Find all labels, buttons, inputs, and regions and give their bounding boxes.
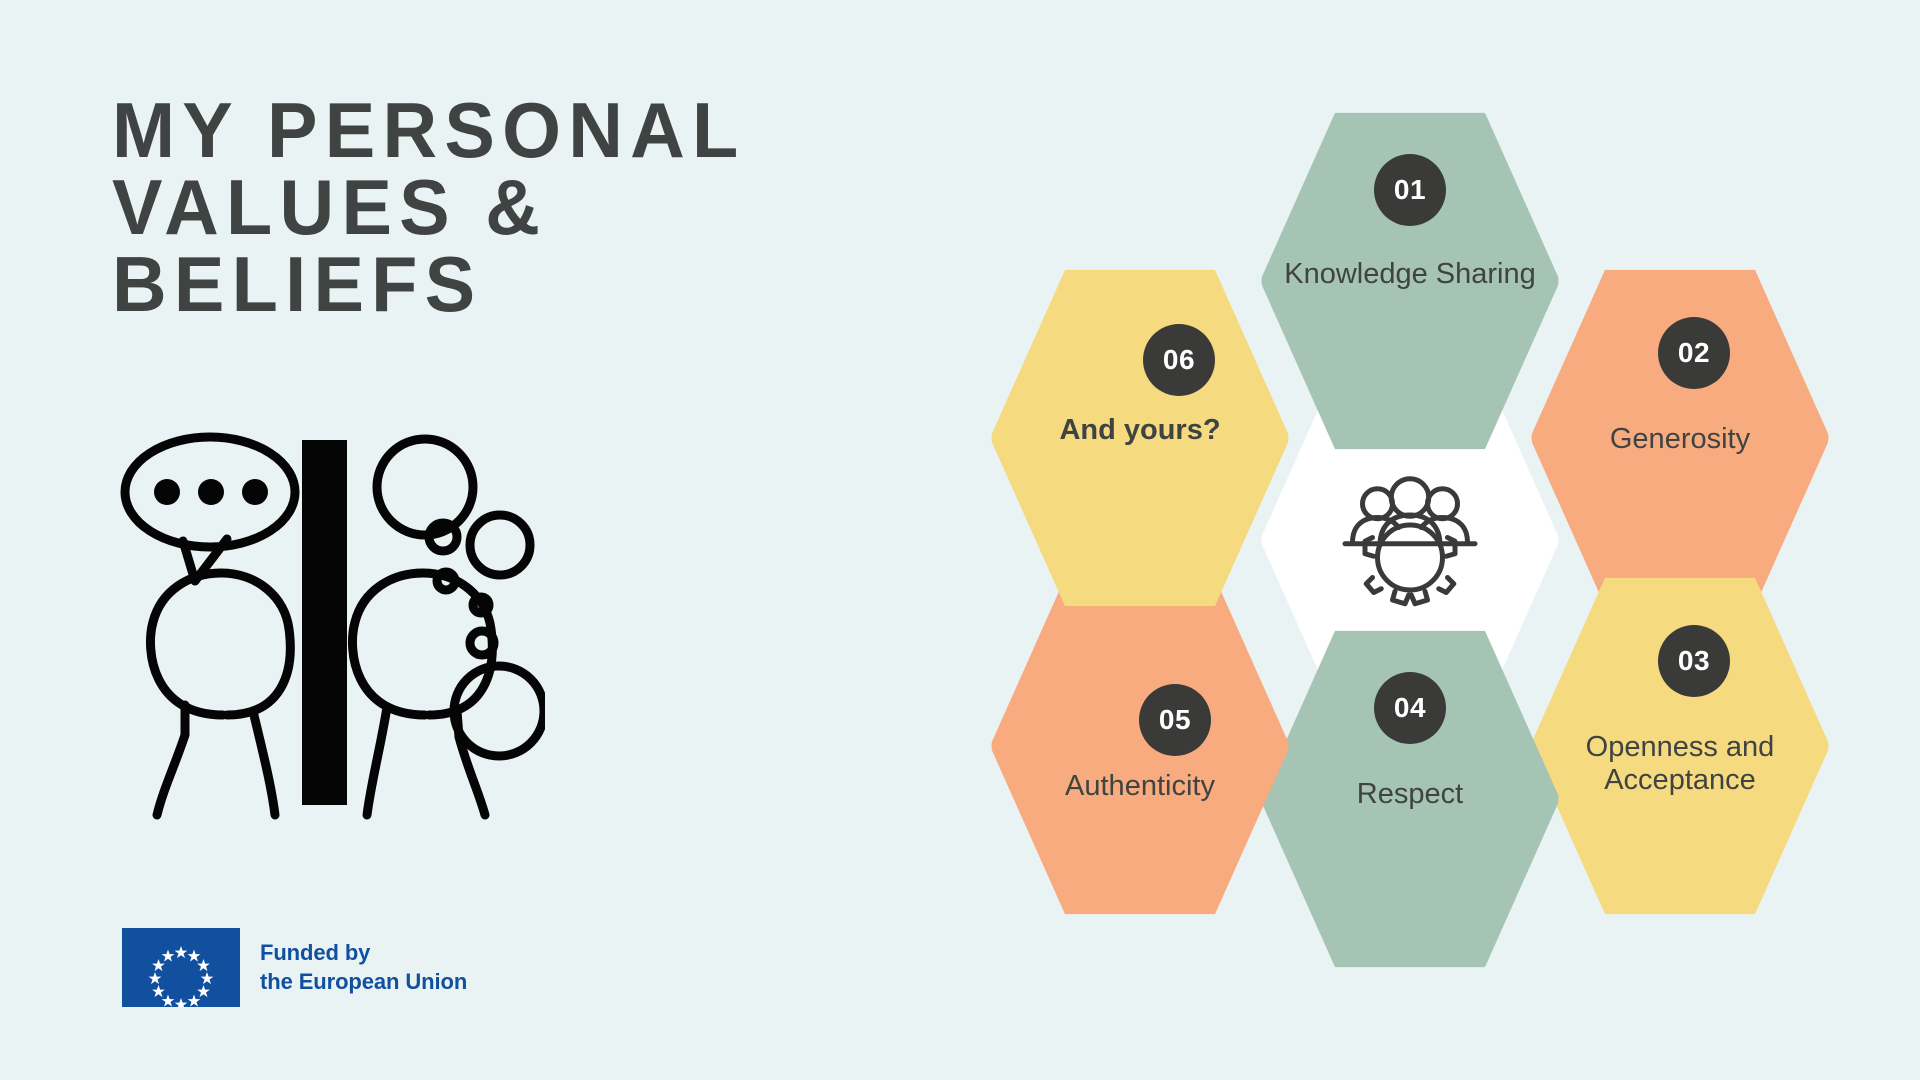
hexagon-06-label: And yours? [990, 414, 1290, 447]
hexagon-03-number: 03 [1678, 647, 1710, 675]
hexagon-05-number: 05 [1159, 706, 1191, 734]
eu-funding-text: Funded by the European Union [260, 939, 467, 995]
hexagon-05-authenticity[interactable]: 05 Authenticity [990, 573, 1290, 919]
european-union-flag [122, 928, 240, 1007]
right-person-shoulder-right [457, 711, 485, 815]
left-person-shoulder-right [253, 711, 275, 815]
hexagon-06-and-yours[interactable]: 06 And yours? [990, 265, 1290, 611]
eu-funding-logo: Funded by the European Union [122, 928, 467, 1007]
thought-bubble-medium [429, 523, 457, 551]
dot-1 [154, 479, 180, 505]
hexagon-01-label: Knowledge Sharing [1260, 258, 1560, 291]
dot-2 [198, 479, 224, 505]
right-person-shoulder-left [367, 707, 387, 815]
hexagon-04-label: Respect [1260, 778, 1560, 811]
heading-block: MY PERSONAL VALUES & BELIEFS [112, 92, 872, 324]
hexagon-06-number: 06 [1163, 346, 1195, 374]
thought-bubble-large-3 [454, 666, 544, 756]
page-title: MY PERSONAL VALUES & BELIEFS [112, 92, 849, 324]
eu-funding-text-line-2: the European Union [260, 968, 467, 996]
dialogue-illustration-svg [105, 415, 545, 855]
hexagon-02-badge: 02 [1658, 317, 1730, 389]
page-title-line-3: BELIEFS [112, 246, 849, 323]
hexagon-06-badge: 06 [1143, 324, 1215, 396]
hexagon-02-label: Generosity [1530, 423, 1830, 456]
hexagon-02-generosity[interactable]: 02 Generosity [1530, 265, 1830, 611]
hexagon-03-openness-and-acceptance[interactable]: 03 Openness and Acceptance [1530, 573, 1830, 919]
hexagon-01-knowledge-sharing[interactable]: 01 Knowledge Sharing [1260, 108, 1560, 454]
dot-3 [242, 479, 268, 505]
left-person-head [150, 573, 290, 715]
hexagon-04-respect[interactable]: 04 Respect [1260, 626, 1560, 972]
values-hex-cluster: 01 Knowledge Sharing 02 Generosity [930, 60, 1890, 1020]
left-person-shoulder-left [157, 705, 185, 815]
poster-canvas: MY PERSONAL VALUES & BELIEFS [0, 0, 1920, 1080]
hexagon-01-badge: 01 [1374, 154, 1446, 226]
hexagon-02-number: 02 [1678, 339, 1710, 367]
page-title-line-2: VALUES & [112, 169, 849, 246]
thought-bubble-large-2 [470, 515, 530, 575]
hexagon-05-label: Authenticity [990, 770, 1290, 803]
people-gear-icon [1335, 465, 1485, 615]
hexagon-01-number: 01 [1394, 176, 1426, 204]
hexagon-03-badge: 03 [1658, 625, 1730, 697]
eu-flag-stars [122, 928, 240, 1007]
hexagon-03-label: Openness and Acceptance [1530, 731, 1830, 797]
divider-bar [302, 440, 347, 805]
page-title-line-1: MY PERSONAL [112, 92, 849, 169]
hexagon-04-number: 04 [1394, 694, 1426, 722]
hexagon-05-badge: 05 [1139, 684, 1211, 756]
eu-funding-text-line-1: Funded by [260, 939, 467, 967]
hexagon-04-badge: 04 [1374, 672, 1446, 744]
thought-bubble-large [377, 439, 473, 535]
two-people-dialogue-illustration [105, 415, 545, 855]
